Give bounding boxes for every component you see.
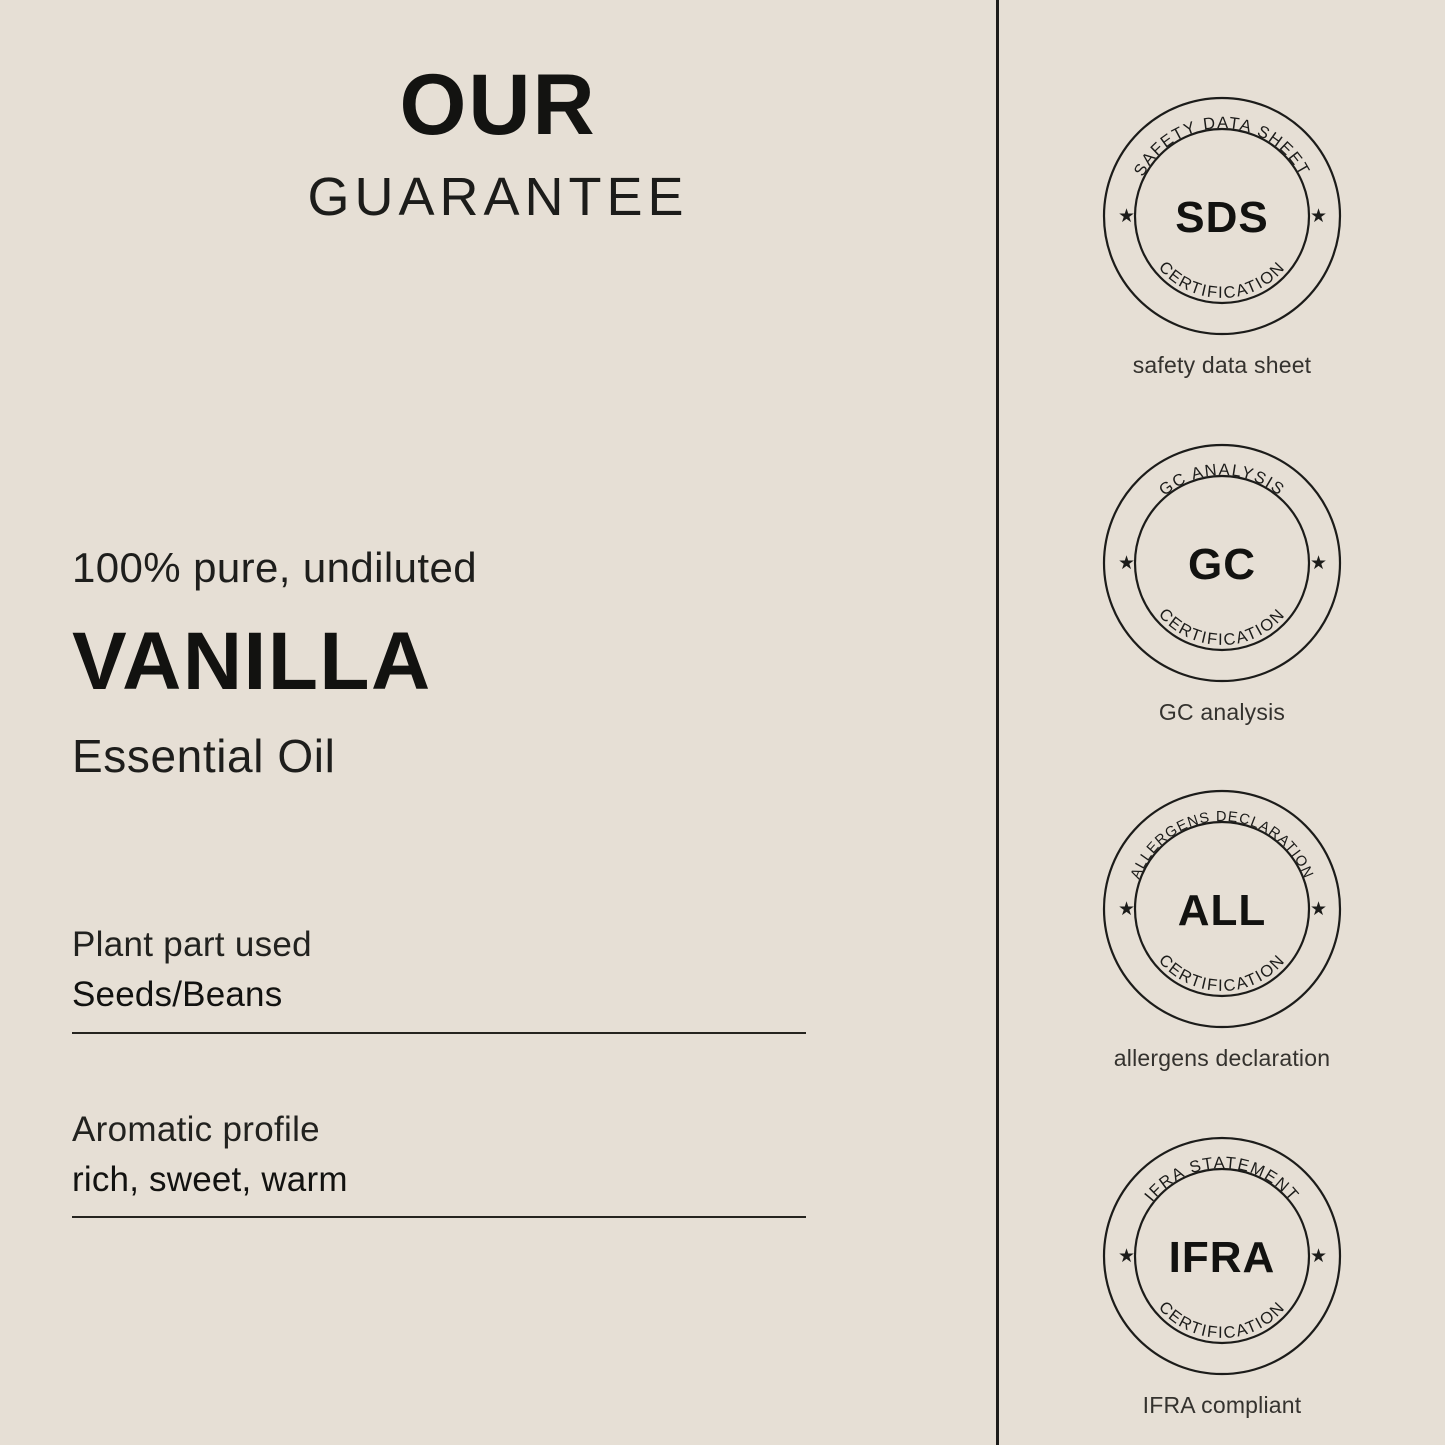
- product-name: VANILLA: [72, 619, 872, 705]
- seal-gc-icon: GC ANALYSIS CERTIFICATION ★ ★ GC: [1102, 443, 1342, 683]
- seal-top-text: ALLERGENS DECLARATION: [1128, 809, 1316, 881]
- page-title-line-1: OUR: [0, 62, 996, 148]
- star-right-icon: ★: [1310, 1246, 1329, 1267]
- product-block: 100% pure, undiluted VANILLA Essential O…: [72, 545, 872, 782]
- seal-all-icon: ALLERGENS DECLARATION CERTIFICATION ★ ★ …: [1102, 789, 1342, 1029]
- seal-center-text: ALL: [1178, 886, 1267, 935]
- badge-caption: safety data sheet: [1133, 352, 1312, 380]
- product-purity-text: 100% pure, undiluted: [72, 545, 872, 591]
- certification-badge: GC ANALYSIS CERTIFICATION ★ ★ GC GC anal…: [999, 443, 1445, 727]
- badge-caption: IFRA compliant: [1143, 1392, 1302, 1420]
- left-panel: OUR GUARANTEE 100% pure, undiluted VANIL…: [0, 0, 996, 1445]
- seal-sds-icon: SAFETY DATA SHEET CERTIFICATION ★ ★ SDS: [1102, 96, 1342, 336]
- seal-bottom-text: CERTIFICATION: [1155, 258, 1289, 302]
- star-right-icon: ★: [1310, 553, 1329, 574]
- guarantee-infographic: OUR GUARANTEE 100% pure, undiluted VANIL…: [0, 0, 1445, 1445]
- page-title-line-2: GUARANTEE: [0, 170, 996, 224]
- seal-top-text: IFRA STATEMENT: [1141, 1154, 1302, 1205]
- seal-center-text: GC: [1188, 540, 1256, 589]
- seal-bottom-text: CERTIFICATION: [1155, 605, 1289, 649]
- attribute-label: Plant part used: [72, 925, 806, 965]
- right-panel: SAFETY DATA SHEET CERTIFICATION ★ ★ SDS …: [999, 0, 1445, 1445]
- attribute-label: Aromatic profile: [72, 1110, 806, 1150]
- star-left-icon: ★: [1118, 1246, 1137, 1267]
- certification-badge: IFRA STATEMENT CERTIFICATION ★ ★ IFRA IF…: [999, 1136, 1445, 1420]
- seal-bottom-text: CERTIFICATION: [1155, 951, 1289, 995]
- certification-badge-list: SAFETY DATA SHEET CERTIFICATION ★ ★ SDS …: [999, 96, 1445, 1419]
- seal-ifra-icon: IFRA STATEMENT CERTIFICATION ★ ★ IFRA: [1102, 1136, 1342, 1376]
- badge-caption: allergens declaration: [1114, 1045, 1330, 1073]
- page-title: OUR GUARANTEE: [0, 62, 996, 224]
- attribute-row: Aromatic profile rich, sweet, warm: [72, 1110, 806, 1219]
- badge-caption: GC analysis: [1159, 699, 1285, 727]
- attribute-list: Plant part used Seeds/Beans Aromatic pro…: [72, 925, 806, 1218]
- attribute-value: rich, sweet, warm: [72, 1160, 806, 1200]
- seal-center-text: IFRA: [1169, 1233, 1276, 1282]
- certification-badge: SAFETY DATA SHEET CERTIFICATION ★ ★ SDS …: [999, 96, 1445, 380]
- seal-top-text: GC ANALYSIS: [1156, 460, 1288, 499]
- attribute-row: Plant part used Seeds/Beans: [72, 925, 806, 1034]
- certification-badge: ALLERGENS DECLARATION CERTIFICATION ★ ★ …: [999, 789, 1445, 1073]
- star-right-icon: ★: [1310, 899, 1329, 920]
- star-left-icon: ★: [1118, 206, 1137, 227]
- seal-top-text: SAFETY DATA SHEET: [1131, 114, 1314, 179]
- seal-bottom-text: CERTIFICATION: [1155, 1298, 1289, 1342]
- star-left-icon: ★: [1118, 553, 1137, 574]
- attribute-value: Seeds/Beans: [72, 975, 806, 1015]
- product-type: Essential Oil: [72, 731, 872, 782]
- star-right-icon: ★: [1310, 206, 1329, 227]
- star-left-icon: ★: [1118, 899, 1137, 920]
- seal-center-text: SDS: [1175, 193, 1268, 242]
